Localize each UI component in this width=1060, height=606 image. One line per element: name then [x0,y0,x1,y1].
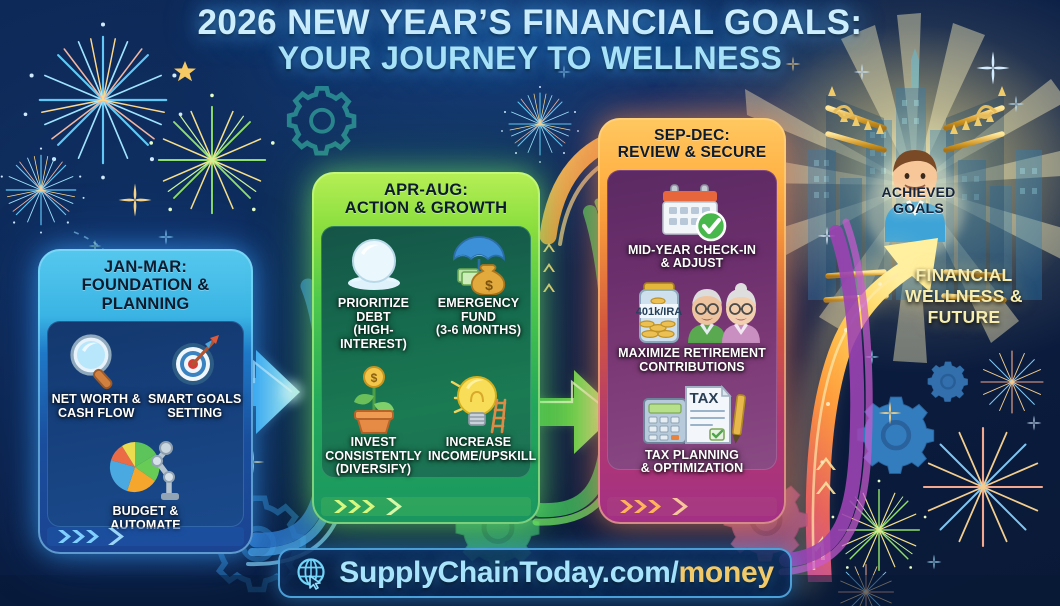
financial-wellness-label: FINANCIAL WELLNESS & FUTURE [880,265,1048,328]
firework-burst-right-upper [981,351,1043,413]
item-label: INCREASEINCOME/UPSKILL [428,436,529,464]
panel-apr-aug[interactable]: APR-AUG: ACTION & GROWTH PRIORITIZE DEBT… [312,172,540,524]
item-label: INVESTCONSISTENTLY(DIVERSIFY) [323,436,424,477]
item-emergency-fund[interactable]: $ EMERGENCYFUND(3-6 MONTHS) [426,232,531,357]
panel-jan-mar-chevrons [47,524,244,549]
elderly-woman-avatar [722,283,760,343]
panel-jan-mar-title: JAN-MAR: FOUNDATION & PLANNING [38,249,253,321]
panel-apr-aug-title-line2: ACTION & GROWTH [318,199,534,217]
panel-apr-aug-title-line1: APR-AUG: [318,181,534,199]
magnifying-glass-icon [65,331,127,391]
item-tax-planning[interactable]: TAX TAX PLANNING& OPTIMIZATION [607,381,777,480]
panel-sep-dec-title-line2: REVIEW & SECURE [604,144,780,161]
panel-jan-mar[interactable]: JAN-MAR: FOUNDATION & PLANNING NET WORTH… [38,249,253,554]
footer-url-banner[interactable]: SupplyChainToday.com/money [278,548,792,598]
title-line-2: YOUR JOURNEY TO WELLNESS [0,41,1060,76]
item-maximize-retirement[interactable]: 401k/IRA [607,277,777,378]
retirement-jar-label: 401k/IRA [636,306,683,318]
globe-icon [296,556,330,590]
firework-burst-bottom-mid [839,565,894,606]
item-label: SMART GOALSSETTING [148,393,243,421]
item-net-worth-cash-flow[interactable]: NET WORTH &CASH FLOW [47,328,146,426]
svg-text:$: $ [370,371,377,385]
footer-url-text[interactable]: SupplyChainToday.com/money [339,556,774,590]
firework-burst-right-big [924,428,1042,546]
item-invest-consistently[interactable]: $ INVESTCONSISTENTLY(DIVERSIFY) [321,363,426,482]
panel-jan-mar-items: NET WORTH &CASH FLOW SMART GOALSSETTING [47,328,244,537]
panel-jan-mar-body: NET WORTH &CASH FLOW SMART GOALSSETTING [47,321,244,527]
retirement-jar-couple-icon: 401k/IRA [622,277,762,345]
item-mid-year-checkin[interactable]: MID-YEAR CHECK-IN& ADJUST [607,176,777,275]
footer-url-main: SupplyChainToday.com/ [339,556,678,589]
item-label: MAXIMIZE RETIREMENTCONTRIBUTIONS [609,347,775,375]
firework-burst-mid-left [149,94,274,214]
panel-sep-dec-title-line1: SEP-DEC: [604,127,780,144]
achieved-goals-line1: ACHIEVED [846,185,991,201]
firework-burst-small-left [0,147,85,233]
achieved-goals-label: ACHIEVED GOALS [846,185,991,216]
panel-jan-mar-title-line2: FOUNDATION & [44,276,247,294]
gear-icon-large [857,397,933,473]
item-label: PRIORITIZE DEBT(HIGH-INTEREST) [323,297,424,352]
title-line-1: 2026 NEW YEAR’S FINANCIAL GOALS: [0,0,1060,41]
gear-icon-top-mid [289,88,354,153]
footer-url-accent: money [679,556,774,589]
flow-ribbon-purple [782,222,869,572]
svg-text:$: $ [485,277,493,293]
item-label: TAX PLANNING& OPTIMIZATION [609,449,775,477]
pie-chart-robot-arm-icon [103,433,189,503]
panel-jan-mar-title-line3: PLANNING [44,295,247,313]
calendar-check-icon [649,176,735,242]
elderly-man-avatar [688,289,726,343]
item-prioritize-debt[interactable]: PRIORITIZE DEBT(HIGH-INTEREST) [321,232,426,357]
infographic-canvas: 2026 NEW YEAR’S FINANCIAL GOALS: YOUR JO… [0,0,1060,606]
lightbulb-ladder-icon [446,366,512,434]
panel-sep-dec-chevrons [607,494,777,519]
firework-burst-top-mid [501,86,579,163]
gear-icon-small [928,362,968,402]
panel-apr-aug-items: PRIORITIZE DEBT(HIGH-INTEREST) $ EMERGEN… [321,232,531,482]
item-increase-income[interactable]: INCREASEINCOME/UPSKILL [426,363,531,482]
item-budget-automate[interactable]: BUDGET &AUTOMATE [47,430,244,538]
page-title: 2026 NEW YEAR’S FINANCIAL GOALS: YOUR JO… [0,0,1060,77]
growing-money-plant-icon: $ [341,366,407,434]
tax-calculator-form-icon: TAX [634,381,750,447]
item-label: NET WORTH &CASH FLOW [49,393,144,421]
panel-sep-dec-title: SEP-DEC: REVIEW & SECURE [598,118,786,170]
wellness-line1: FINANCIAL [880,265,1048,286]
target-dartboard-icon [164,331,226,391]
wellness-line2: WELLNESS & [880,286,1048,307]
firework-burst-right-small [832,480,927,571]
item-label: MID-YEAR CHECK-IN& ADJUST [609,244,775,272]
city-skyline [808,48,1042,300]
achieved-goals-line2: GOALS [846,201,991,217]
tax-form-label: TAX [690,390,719,407]
item-label: EMERGENCYFUND(3-6 MONTHS) [428,297,529,338]
melting-snowball-icon [341,235,407,295]
umbrella-money-bag-icon: $ [446,235,512,295]
panel-apr-aug-body: PRIORITIZE DEBT(HIGH-INTEREST) $ EMERGEN… [321,226,531,478]
panel-apr-aug-title: APR-AUG: ACTION & GROWTH [312,172,540,226]
panel-sep-dec-items: MID-YEAR CHECK-IN& ADJUST 401k/IRA [607,176,777,480]
panel-apr-aug-chevrons [321,494,531,519]
panel-jan-mar-title-line1: JAN-MAR: [44,258,247,276]
wellness-line3: FUTURE [880,307,1048,328]
item-smart-goals-setting[interactable]: SMART GOALSSETTING [146,328,245,426]
panel-sep-dec[interactable]: SEP-DEC: REVIEW & SECURE [598,118,786,524]
panel-sep-dec-body: MID-YEAR CHECK-IN& ADJUST 401k/IRA [607,170,777,470]
